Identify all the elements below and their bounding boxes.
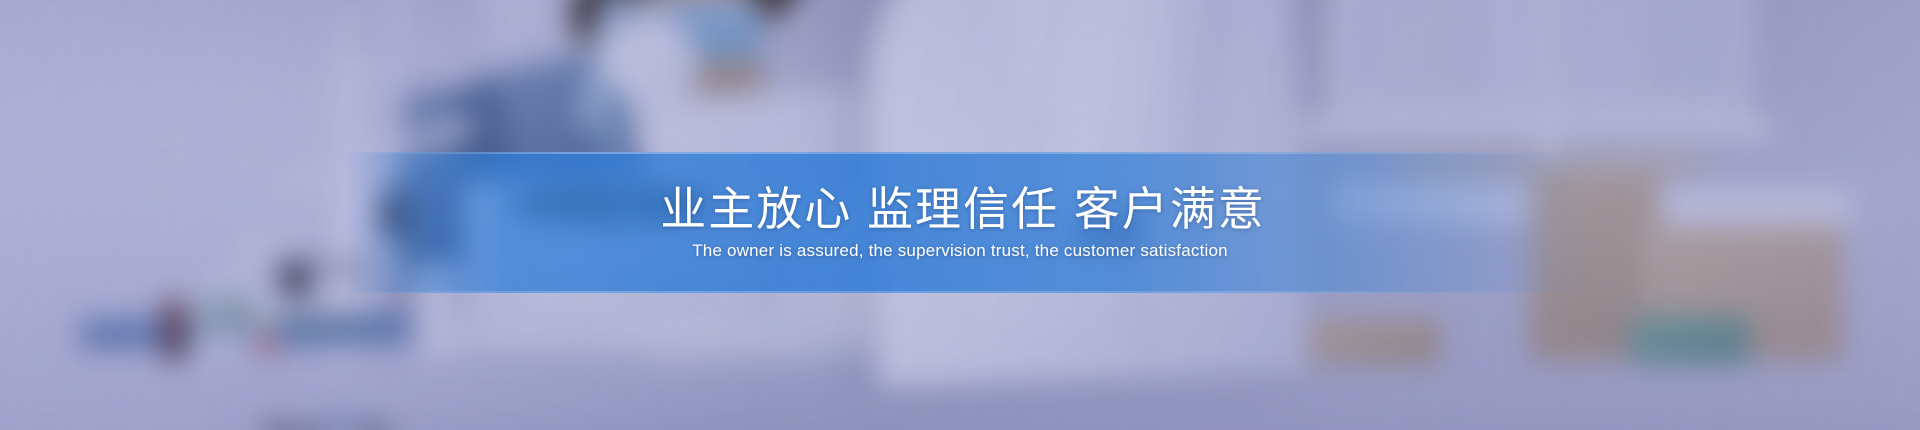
banner-copy: 业主放心 监理信任 客户满意 The owner is assured, the… bbox=[0, 152, 1920, 293]
banner-subheadline: The owner is assured, the supervision tr… bbox=[692, 241, 1228, 261]
banner-headline: 业主放心 监理信任 客户满意 bbox=[654, 184, 1266, 236]
hero-banner: 业主放心 监理信任 客户满意 The owner is assured, the… bbox=[0, 0, 1920, 430]
